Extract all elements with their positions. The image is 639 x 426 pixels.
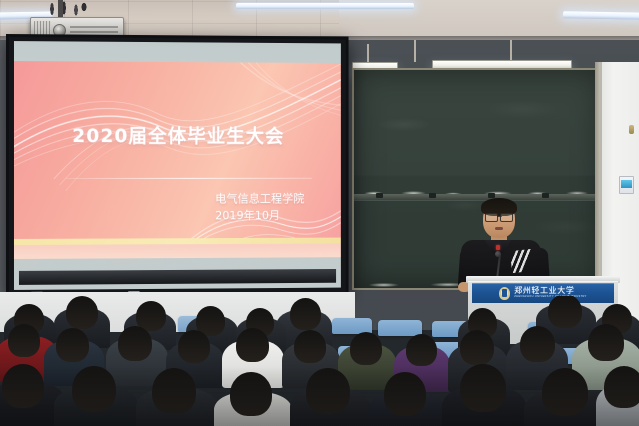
- audience-member-head: [2, 364, 44, 408]
- audience-member-head: [290, 298, 321, 330]
- audience-member-head: [118, 326, 152, 361]
- audience-member-head: [152, 368, 196, 414]
- audience-member-head: [604, 366, 639, 408]
- speaker-sleeve-stripes: [510, 249, 534, 273]
- slide-subtitle: 电气信息工程学院 2019年10月: [215, 191, 304, 224]
- audience-member-head: [56, 328, 89, 362]
- audience-member-head: [460, 364, 506, 412]
- slide-wave-graphic: [14, 61, 341, 259]
- speaker-mouth: [495, 227, 503, 230]
- audience-member-head: [66, 296, 98, 329]
- audience-member-head: [294, 330, 326, 363]
- door-handle-icon[interactable]: [629, 125, 634, 134]
- audience-member-head: [306, 368, 350, 414]
- microphone-icon: [495, 251, 501, 257]
- slide-subtitle-line1: 电气信息工程学院: [215, 191, 304, 208]
- glasses-icon: [484, 213, 514, 221]
- lamp-rod-left: [367, 44, 369, 64]
- university-name-cn: 郑州轻工业大学: [514, 287, 587, 295]
- audience-member-head: [236, 328, 269, 362]
- slide-subtitle-line2: 2019年10月: [215, 207, 304, 224]
- audience-member-head: [350, 332, 382, 365]
- audience: Lyf: [0, 296, 639, 426]
- blackboard-clip: [376, 193, 383, 198]
- lapel-pin-icon: [496, 245, 500, 250]
- audience-member-head: [8, 324, 40, 357]
- presentation-slide: 2020届全体毕业生大会 电气信息工程学院 2019年10月: [14, 61, 341, 259]
- slide-title: 2020届全体毕业生大会: [14, 121, 341, 148]
- projection-screen: 2020届全体毕业生大会 电气信息工程学院 2019年10月: [6, 34, 349, 298]
- audience-member-head: [542, 368, 588, 416]
- audience-member-head: [384, 372, 426, 416]
- lamp-rod-center-a: [414, 40, 416, 62]
- projection-screen-surface: 2020届全体毕业生大会 电气信息工程学院 2019年10月: [14, 41, 341, 290]
- audience-member-head: [72, 366, 116, 412]
- lecture-hall-photo: 2020届全体毕业生大会 电气信息工程学院 2019年10月: [0, 0, 639, 426]
- chair-back: [378, 320, 422, 336]
- slide-divider: [66, 178, 312, 179]
- blackboard-clip: [429, 193, 436, 198]
- audience-member-head: [460, 330, 494, 365]
- audience-member-head: [178, 330, 210, 363]
- screen-bottom-bar: [19, 269, 336, 285]
- audience-member-head: [520, 326, 555, 362]
- slide-footer-band: [14, 243, 341, 258]
- audience-member-head: [588, 324, 624, 361]
- speaker-person: [455, 196, 551, 288]
- lamp-rod-center-b: [510, 40, 512, 62]
- audience-member-head: [548, 296, 582, 328]
- audience-member-head: [230, 372, 272, 416]
- ceiling-tube-center-icon: [236, 3, 414, 9]
- audience-member-head: [406, 334, 437, 366]
- wall-control-panel[interactable]: [619, 176, 634, 194]
